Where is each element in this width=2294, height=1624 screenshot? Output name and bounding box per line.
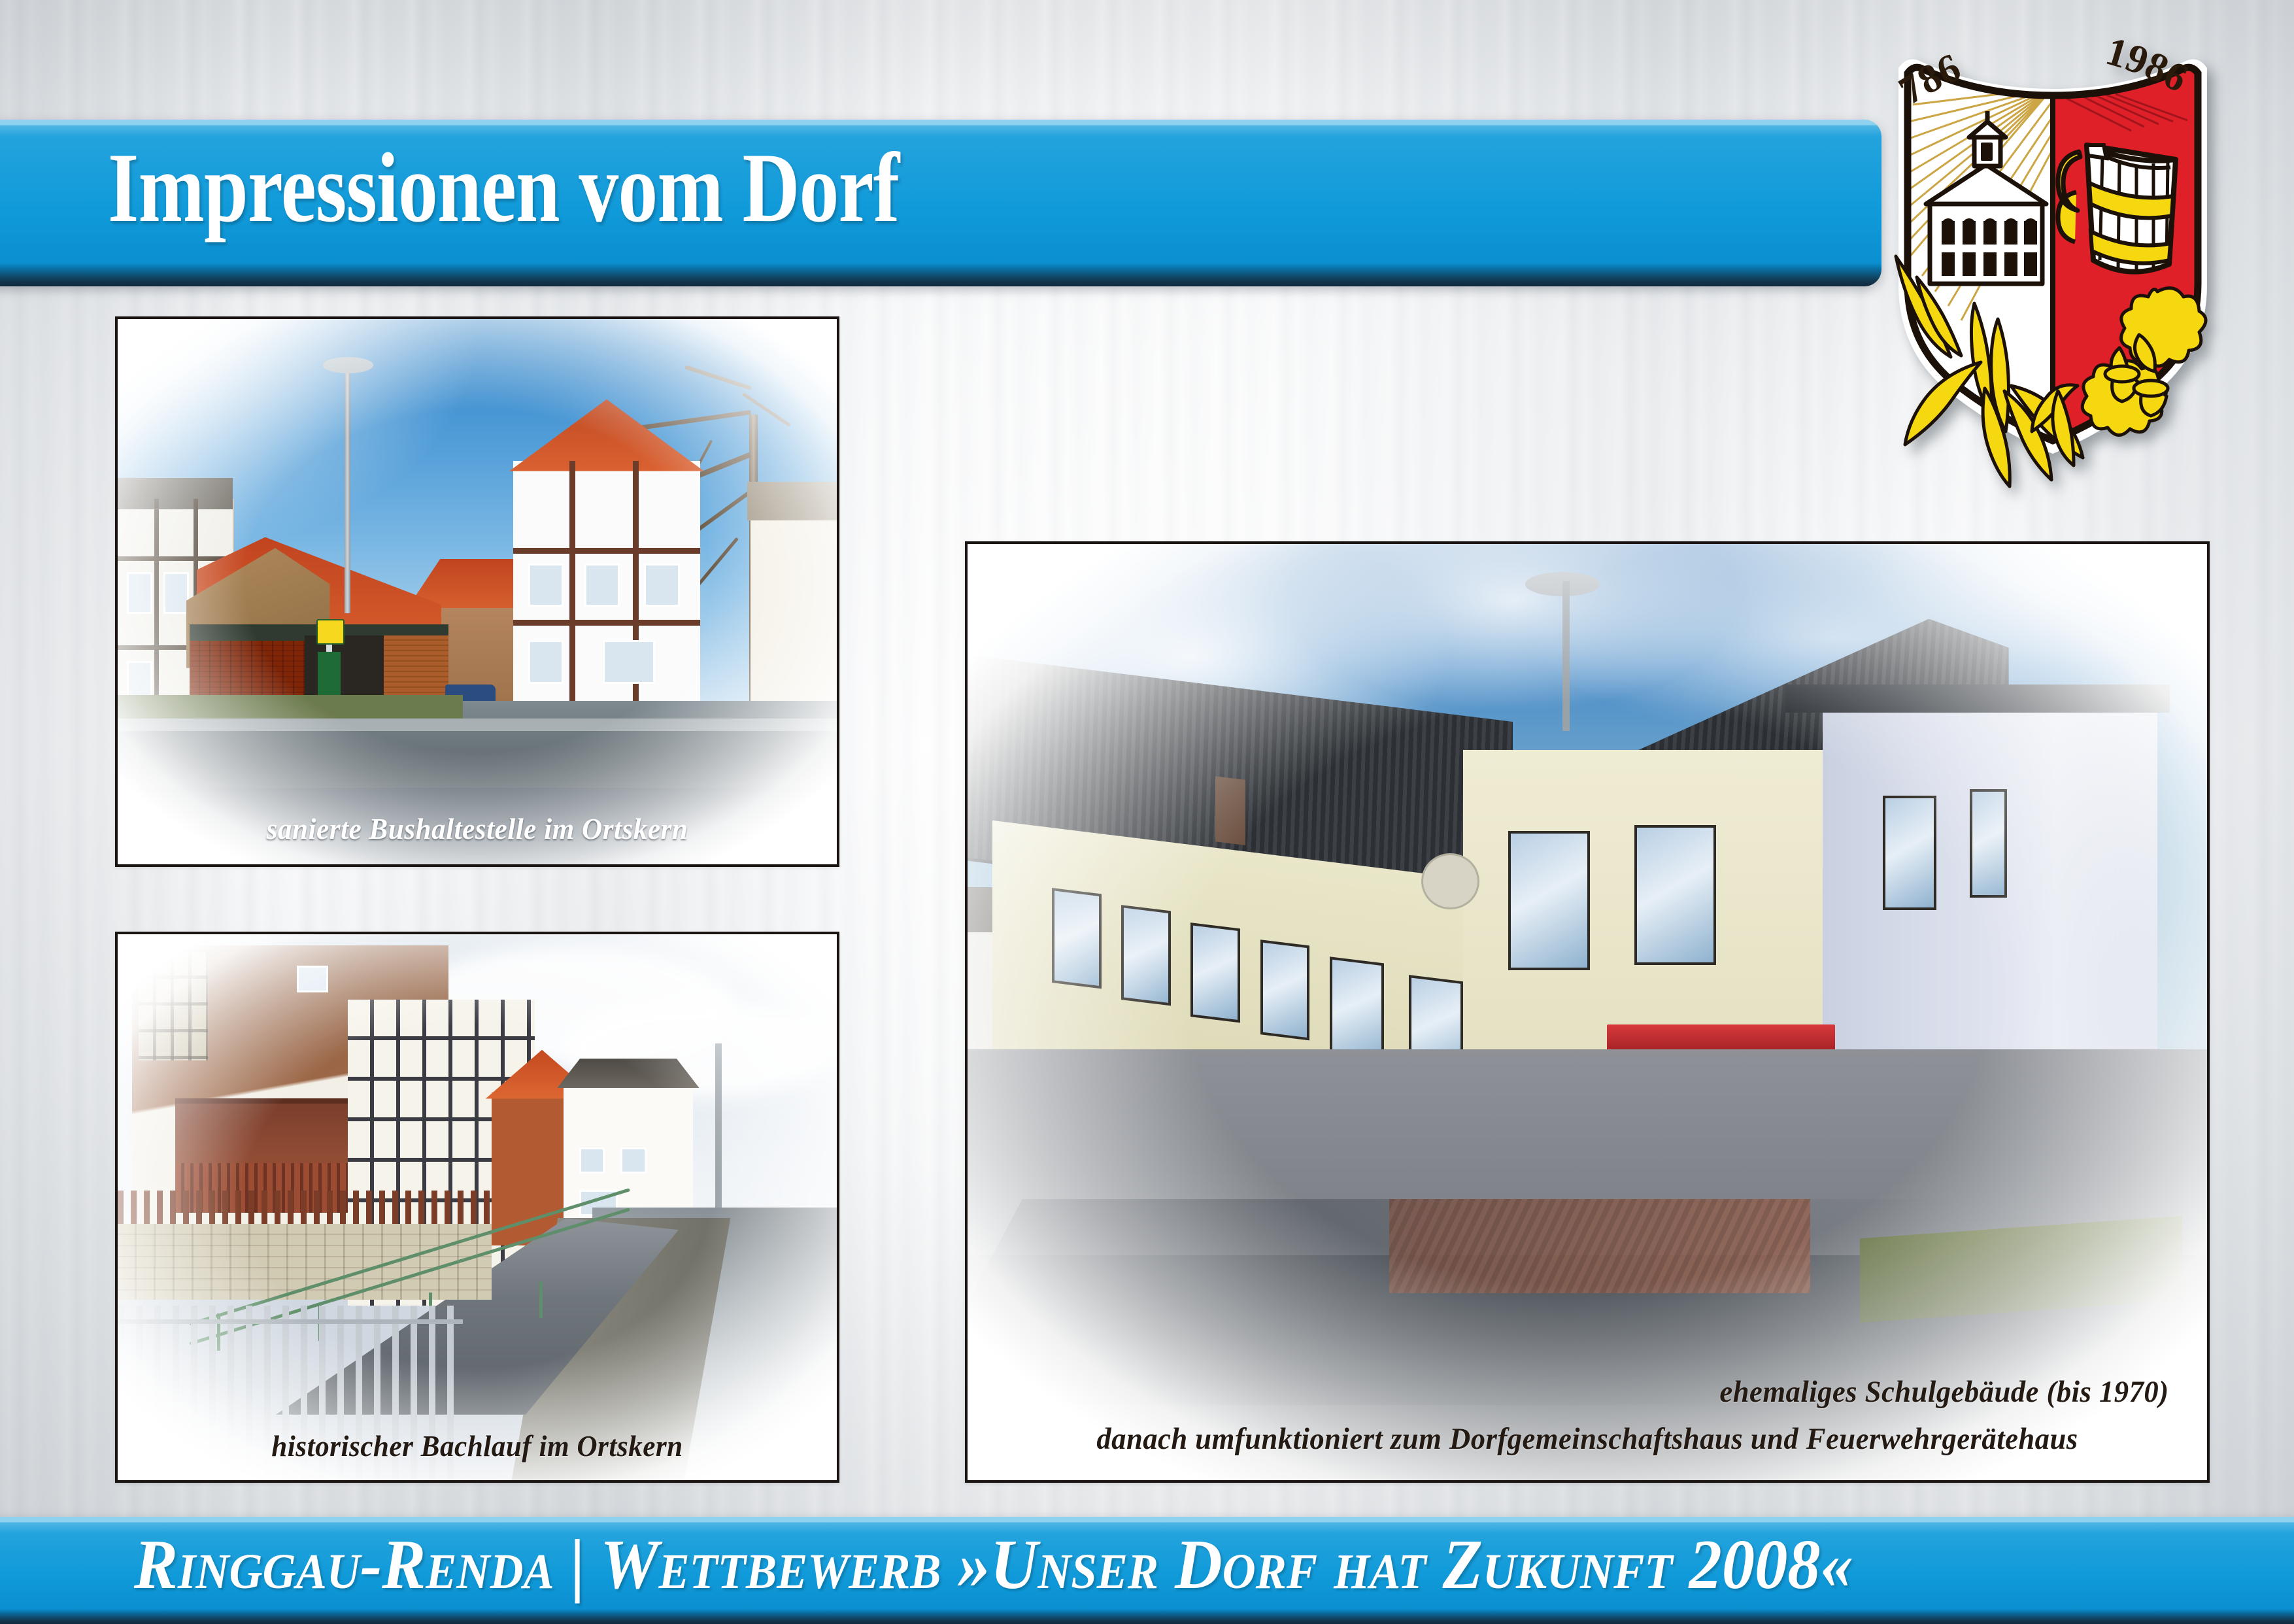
window: [163, 572, 189, 614]
window: [1634, 825, 1716, 964]
roof: [557, 1058, 700, 1088]
window: [1330, 956, 1384, 1062]
timber-beam: [118, 556, 233, 561]
window: [1883, 796, 1936, 910]
photo-brook-caption: historischer Bachlauf im Ortskern: [139, 1429, 815, 1463]
timber-beam: [513, 620, 700, 626]
photo-bus-stop-caption: sanierte Bushaltestelle im Ortskern: [139, 811, 815, 846]
photo-school-caption-line1: ehemaliges Schulgebäude (bis 1970): [1007, 1374, 2207, 1410]
window: [644, 564, 679, 607]
coat-of-arms: 786 1986: [1883, 0, 2223, 493]
bus-stop-sign-panel: [318, 652, 341, 701]
header-banner: Impressionen vom Dorf: [0, 120, 1881, 286]
photo-school-building-image: ehemaliges Schulgebäude (bis 1970) danac…: [968, 544, 2207, 1480]
window: [528, 640, 564, 684]
photo-bus-stop-image: sanierte Bushaltestelle im Ortskern: [118, 319, 837, 864]
window: [1508, 831, 1590, 970]
window: [1260, 939, 1309, 1040]
poster-canvas: Impressionen vom Dorf: [0, 0, 2294, 1624]
chimney: [1215, 776, 1245, 845]
window: [584, 564, 620, 607]
street-lamp-pole: [345, 368, 351, 613]
footer-title: Ringgau-Renda | Wettbewerb »Unser Dorf h…: [134, 1530, 1853, 1600]
timber-frame-gable: [139, 952, 208, 1060]
window: [620, 1147, 647, 1174]
timber-beam: [569, 461, 575, 717]
tree-branch: [695, 537, 738, 588]
half-timbered-house-main: [513, 461, 700, 717]
photo-school-caption-line2: danach umfunktioniert zum Dorfgemeinscha…: [998, 1421, 2176, 1457]
window: [127, 572, 152, 614]
window: [1052, 888, 1102, 989]
antenna-mast: [1562, 581, 1569, 731]
window: [1970, 789, 2006, 898]
photo-brook: historischer Bachlauf im Ortskern: [115, 932, 839, 1483]
photo-bus-stop: sanierte Bushaltestelle im Ortskern: [115, 316, 839, 867]
window: [579, 1147, 605, 1174]
window: [1121, 905, 1171, 1006]
window: [528, 564, 564, 607]
handrail-post: [539, 1281, 543, 1318]
satellite-dish: [1421, 853, 1479, 909]
kerb: [118, 719, 837, 730]
photo-school-building: ehemaliges Schulgebäude (bis 1970) danac…: [965, 541, 2210, 1483]
photo-brook-image: historischer Bachlauf im Ortskern: [118, 934, 837, 1480]
window: [603, 640, 655, 684]
eave: [1785, 685, 2170, 713]
tree-branch: [685, 365, 752, 390]
window: [297, 966, 328, 992]
footer-banner: Ringgau-Renda | Wettbewerb »Unser Dorf h…: [0, 1517, 2294, 1624]
window: [1190, 922, 1240, 1023]
timber-beam: [513, 548, 700, 554]
page-title: Impressionen vom Dorf: [108, 138, 899, 237]
bus-stop-sign-icon: [316, 619, 345, 645]
